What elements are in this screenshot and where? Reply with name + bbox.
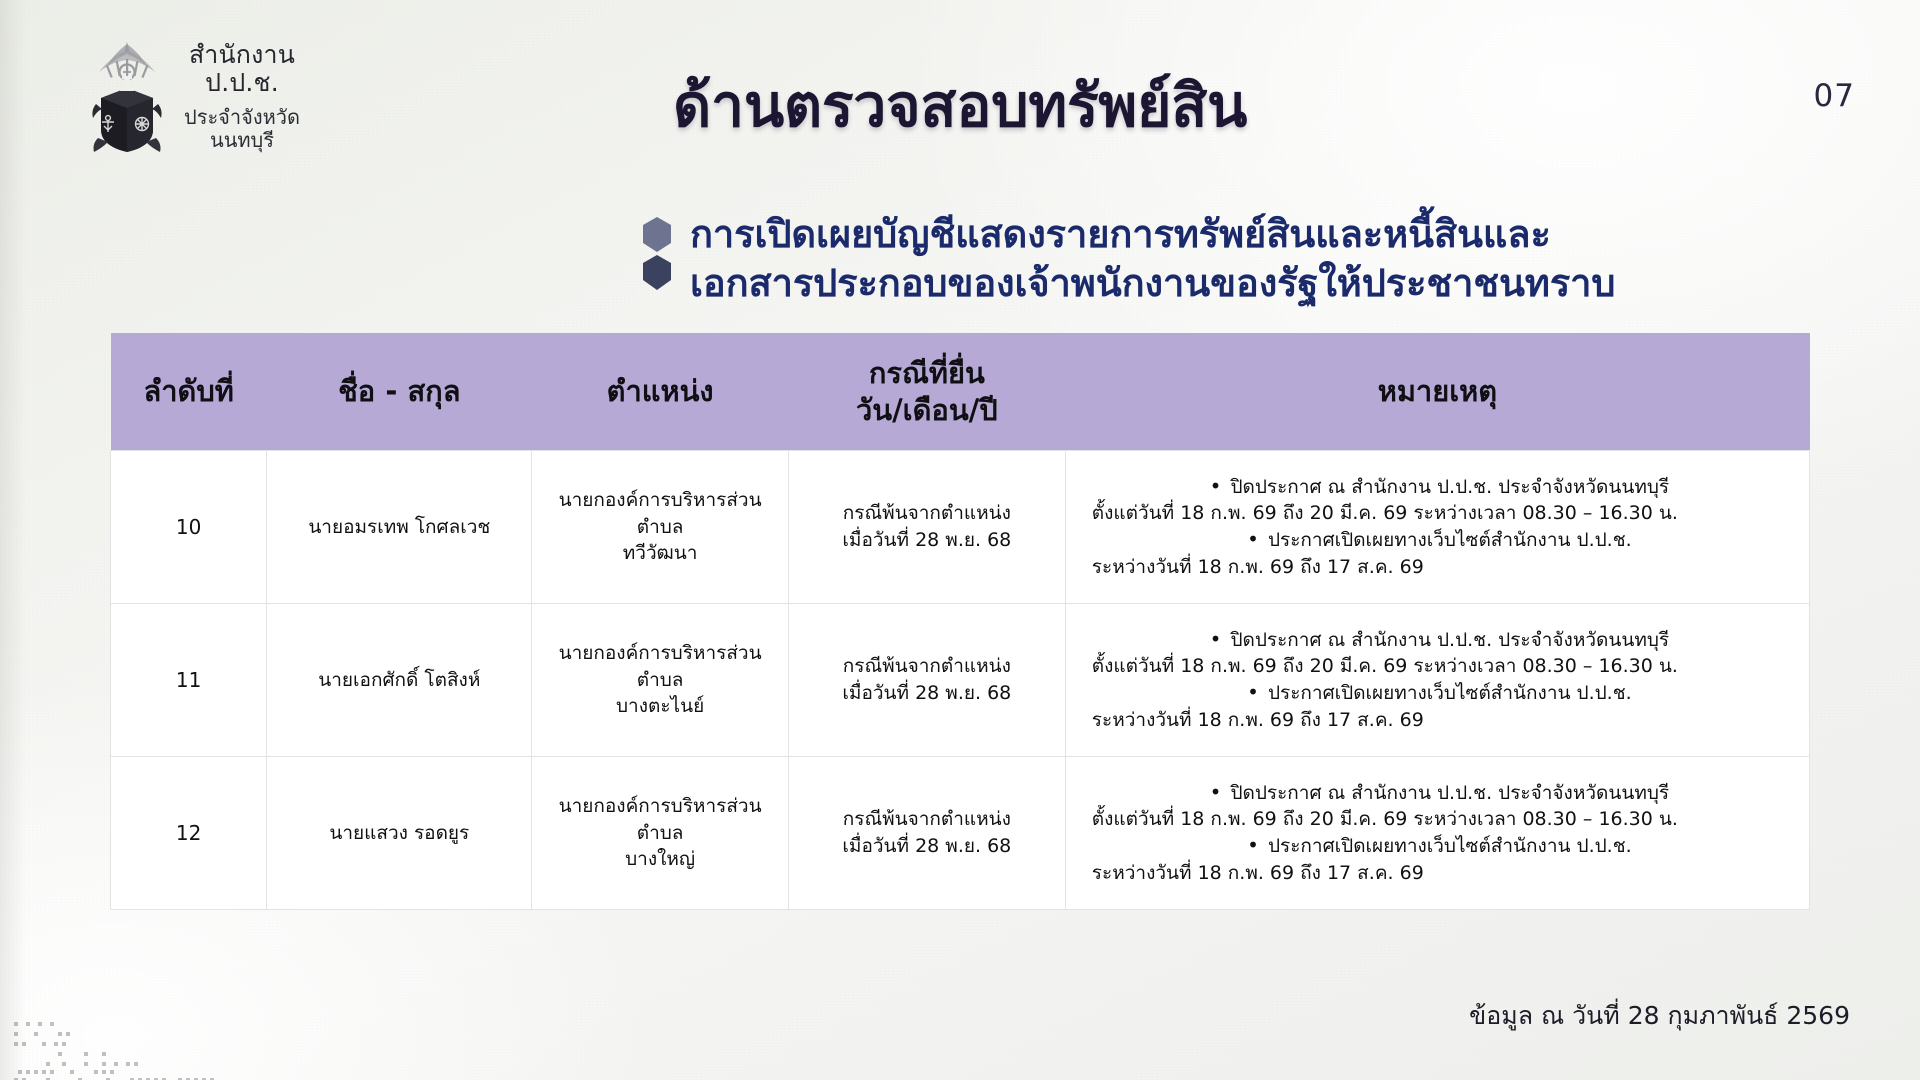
cell-case-line-2: เมื่อวันที่ 28 พ.ย. 68	[799, 833, 1055, 860]
cell-case-line-2: เมื่อวันที่ 28 พ.ย. 68	[799, 680, 1055, 707]
cell-position-line-2: บางตะไนย์	[542, 693, 778, 720]
remark-item: ประกาศเปิดเผยทางเว็บไซต์สำนักงาน ป.ป.ช. …	[1092, 833, 1787, 886]
remark-lead-1: ปิดประกาศ ณ สำนักงาน ป.ป.ช. ประจำจังหวัด…	[1092, 780, 1787, 807]
remark-item: ปิดประกาศ ณ สำนักงาน ป.ป.ช. ประจำจังหวัด…	[1092, 780, 1787, 833]
cell-position-line-1: นายกองค์การบริหารส่วนตำบล	[542, 793, 778, 846]
cell-remarks: ปิดประกาศ ณ สำนักงาน ป.ป.ช. ประจำจังหวัด…	[1065, 451, 1809, 604]
cell-case: กรณีพ้นจากตำแหน่ง เมื่อวันที่ 28 พ.ย. 68	[788, 451, 1065, 604]
page-title: ด้านตรวจสอบทรัพย์สิน	[0, 58, 1920, 152]
remark-sub-2: ระหว่างวันที่ 18 ก.พ. 69 ถึง 17 ส.ค. 69	[1092, 860, 1787, 887]
remark-sub-1: ตั้งแต่วันที่ 18 ก.พ. 69 ถึง 20 มี.ค. 69…	[1092, 653, 1787, 680]
cell-case-line-2: เมื่อวันที่ 28 พ.ย. 68	[799, 527, 1055, 554]
column-header-position: ตำแหน่ง	[532, 333, 789, 451]
table-row: 11 นายเอกศักดิ์ โตสิงห์ นายกองค์การบริหา…	[111, 604, 1810, 757]
slide: สำนักงาน ป.ป.ช. ประจำจังหวัด นนทบุรี ด้า…	[0, 0, 1920, 1080]
remark-lead-2: ประกาศเปิดเผยทางเว็บไซต์สำนักงาน ป.ป.ช.	[1092, 833, 1787, 860]
cell-case-line-1: กรณีพ้นจากตำแหน่ง	[799, 653, 1055, 680]
cell-order: 12	[111, 757, 267, 910]
remark-item: ประกาศเปิดเผยทางเว็บไซต์สำนักงาน ป.ป.ช. …	[1092, 527, 1787, 580]
cell-name: นายเอกศักดิ์ โตสิงห์	[267, 604, 532, 757]
cell-case: กรณีพ้นจากตำแหน่ง เมื่อวันที่ 28 พ.ย. 68	[788, 604, 1065, 757]
cell-order: 11	[111, 604, 267, 757]
column-header-case-line-2: วัน/เดือน/ปี	[796, 392, 1057, 429]
subtitle-line-2: เอกสารประกอบของเจ้าพนักงานของรัฐให้ประชา…	[690, 259, 1615, 308]
decorative-dot-pattern	[6, 1000, 246, 1080]
subtitle-block: การเปิดเผยบัญชีแสดงรายการทรัพย์สินและหนี…	[640, 210, 1615, 309]
cell-position-line-2: ทวีวัฒนา	[542, 540, 778, 567]
column-header-case-line-1: กรณีที่ยื่น	[796, 355, 1057, 392]
cell-order: 10	[111, 451, 267, 604]
data-as-of-label: ข้อมูล ณ วันที่ 28 กุมภาพันธ์ 2569	[1469, 996, 1850, 1036]
asset-disclosure-table: ลำดับที่ ชื่อ - สกุล ตำแหน่ง กรณีที่ยื่น…	[110, 333, 1810, 910]
cell-name: นายอมรเทพ โกศลเวช	[267, 451, 532, 604]
hexagon-bullet-icon	[640, 216, 674, 292]
cell-position-line-1: นายกองค์การบริหารส่วนตำบล	[542, 487, 778, 540]
table-row: 12 นายแสวง รอดยูร นายกองค์การบริหารส่วนต…	[111, 757, 1810, 910]
cell-position-line-1: นายกองค์การบริหารส่วนตำบล	[542, 640, 778, 693]
remark-lead-1: ปิดประกาศ ณ สำนักงาน ป.ป.ช. ประจำจังหวัด…	[1092, 627, 1787, 654]
page-number: 07	[1814, 78, 1855, 114]
subtitle-text: การเปิดเผยบัญชีแสดงรายการทรัพย์สินและหนี…	[690, 210, 1615, 309]
remark-sub-2: ระหว่างวันที่ 18 ก.พ. 69 ถึง 17 ส.ค. 69	[1092, 554, 1787, 581]
table-header: ลำดับที่ ชื่อ - สกุล ตำแหน่ง กรณีที่ยื่น…	[111, 333, 1810, 451]
cell-position: นายกองค์การบริหารส่วนตำบล บางใหญ่	[532, 757, 789, 910]
table-header-row: ลำดับที่ ชื่อ - สกุล ตำแหน่ง กรณีที่ยื่น…	[111, 333, 1810, 451]
remark-sub-2: ระหว่างวันที่ 18 ก.พ. 69 ถึง 17 ส.ค. 69	[1092, 707, 1787, 734]
cell-name: นายแสวง รอดยูร	[267, 757, 532, 910]
column-header-name: ชื่อ - สกุล	[267, 333, 532, 451]
left-edge-shade	[0, 0, 26, 1080]
cell-position: นายกองค์การบริหารส่วนตำบล บางตะไนย์	[532, 604, 789, 757]
remark-lead-2: ประกาศเปิดเผยทางเว็บไซต์สำนักงาน ป.ป.ช.	[1092, 527, 1787, 554]
cell-case-line-1: กรณีพ้นจากตำแหน่ง	[799, 806, 1055, 833]
cell-remarks: ปิดประกาศ ณ สำนักงาน ป.ป.ช. ประจำจังหวัด…	[1065, 757, 1809, 910]
remark-lead-2: ประกาศเปิดเผยทางเว็บไซต์สำนักงาน ป.ป.ช.	[1092, 680, 1787, 707]
subtitle-line-1: การเปิดเผยบัญชีแสดงรายการทรัพย์สินและหนี…	[690, 210, 1615, 259]
remark-item: ปิดประกาศ ณ สำนักงาน ป.ป.ช. ประจำจังหวัด…	[1092, 474, 1787, 527]
remark-sub-1: ตั้งแต่วันที่ 18 ก.พ. 69 ถึง 20 มี.ค. 69…	[1092, 500, 1787, 527]
cell-remarks: ปิดประกาศ ณ สำนักงาน ป.ป.ช. ประจำจังหวัด…	[1065, 604, 1809, 757]
remark-item: ปิดประกาศ ณ สำนักงาน ป.ป.ช. ประจำจังหวัด…	[1092, 627, 1787, 680]
cell-case-line-1: กรณีพ้นจากตำแหน่ง	[799, 500, 1055, 527]
table-body: 10 นายอมรเทพ โกศลเวช นายกองค์การบริหารส่…	[111, 451, 1810, 910]
asset-disclosure-table-container: ลำดับที่ ชื่อ - สกุล ตำแหน่ง กรณีที่ยื่น…	[110, 333, 1810, 910]
table-row: 10 นายอมรเทพ โกศลเวช นายกองค์การบริหารส่…	[111, 451, 1810, 604]
column-header-case: กรณีที่ยื่น วัน/เดือน/ปี	[788, 333, 1065, 451]
remark-lead-1: ปิดประกาศ ณ สำนักงาน ป.ป.ช. ประจำจังหวัด…	[1092, 474, 1787, 501]
cell-position-line-2: บางใหญ่	[542, 846, 778, 873]
remark-item: ประกาศเปิดเผยทางเว็บไซต์สำนักงาน ป.ป.ช. …	[1092, 680, 1787, 733]
remark-sub-1: ตั้งแต่วันที่ 18 ก.พ. 69 ถึง 20 มี.ค. 69…	[1092, 806, 1787, 833]
cell-position: นายกองค์การบริหารส่วนตำบล ทวีวัฒนา	[532, 451, 789, 604]
cell-case: กรณีพ้นจากตำแหน่ง เมื่อวันที่ 28 พ.ย. 68	[788, 757, 1065, 910]
column-header-remarks: หมายเหตุ	[1065, 333, 1809, 451]
column-header-order: ลำดับที่	[111, 333, 267, 451]
